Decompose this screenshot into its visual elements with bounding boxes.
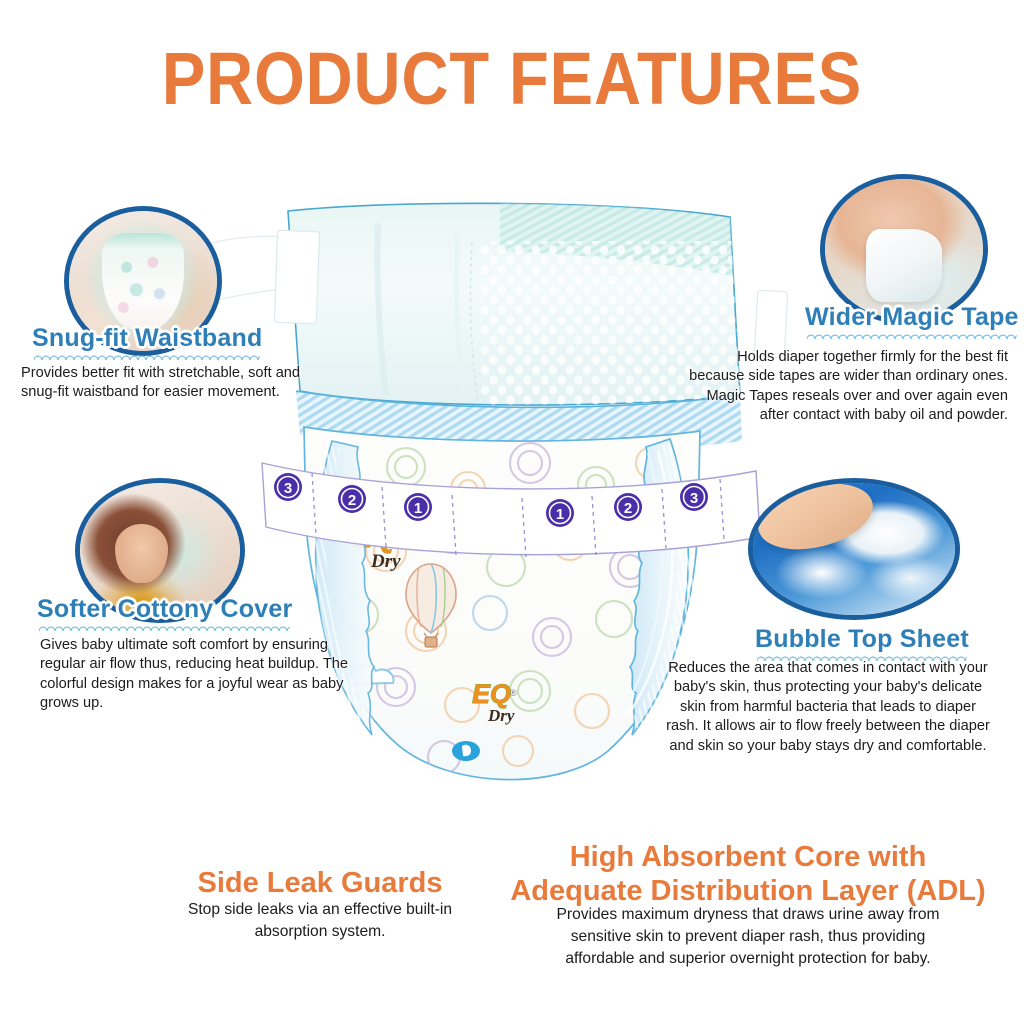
magic-tape-left bbox=[212, 230, 320, 323]
softer-cottony-cover-heading: Softer Cottony Cover bbox=[37, 595, 292, 624]
hand-holding-tape-photo bbox=[825, 179, 983, 319]
svg-text:®: ® bbox=[510, 688, 517, 698]
snug-fit-waistband-body: Provides better fit with stretchable, so… bbox=[21, 364, 351, 403]
bubble-top-sheet-heading: Bubble Top Sheet bbox=[755, 625, 969, 654]
svg-text:Dry: Dry bbox=[487, 706, 515, 725]
wider-magic-tape-heading: Wider Magic Tape bbox=[805, 303, 1019, 332]
high-absorbent-core-title: High Absorbent Core with Adequate Distri… bbox=[478, 840, 1018, 908]
svg-text:2: 2 bbox=[348, 492, 356, 509]
svg-text:1: 1 bbox=[556, 506, 564, 523]
svg-text:EQ: EQ bbox=[472, 679, 511, 709]
softer-cottony-cover-body: Gives baby ultimate soft comfort by ensu… bbox=[40, 636, 375, 714]
blue-drop-motif bbox=[452, 741, 480, 761]
svg-text:2: 2 bbox=[624, 500, 632, 517]
svg-text:Dry: Dry bbox=[370, 551, 401, 572]
wider-magic-tape-photo bbox=[820, 174, 988, 324]
svg-text:3: 3 bbox=[284, 480, 292, 497]
high-absorbent-core-body: Provides maximum dryness that draws urin… bbox=[470, 904, 1024, 969]
snug-fit-waistband-heading: Snug-fit Waistband bbox=[32, 324, 262, 353]
bubble-top-sheet-body: Reduces the area that comes in contact w… bbox=[648, 659, 1008, 756]
page-title: PRODUCT FEATURES bbox=[61, 42, 962, 116]
svg-text:1: 1 bbox=[414, 500, 422, 517]
svg-text:3: 3 bbox=[690, 490, 698, 507]
wider-magic-tape-body: Holds diaper together firmly for the bes… bbox=[648, 348, 1008, 426]
bubble-top-sheet-macro-photo bbox=[753, 483, 955, 615]
side-leak-guards-title: Side Leak Guards bbox=[118, 866, 522, 900]
bubble-top-sheet-photo bbox=[748, 478, 960, 620]
